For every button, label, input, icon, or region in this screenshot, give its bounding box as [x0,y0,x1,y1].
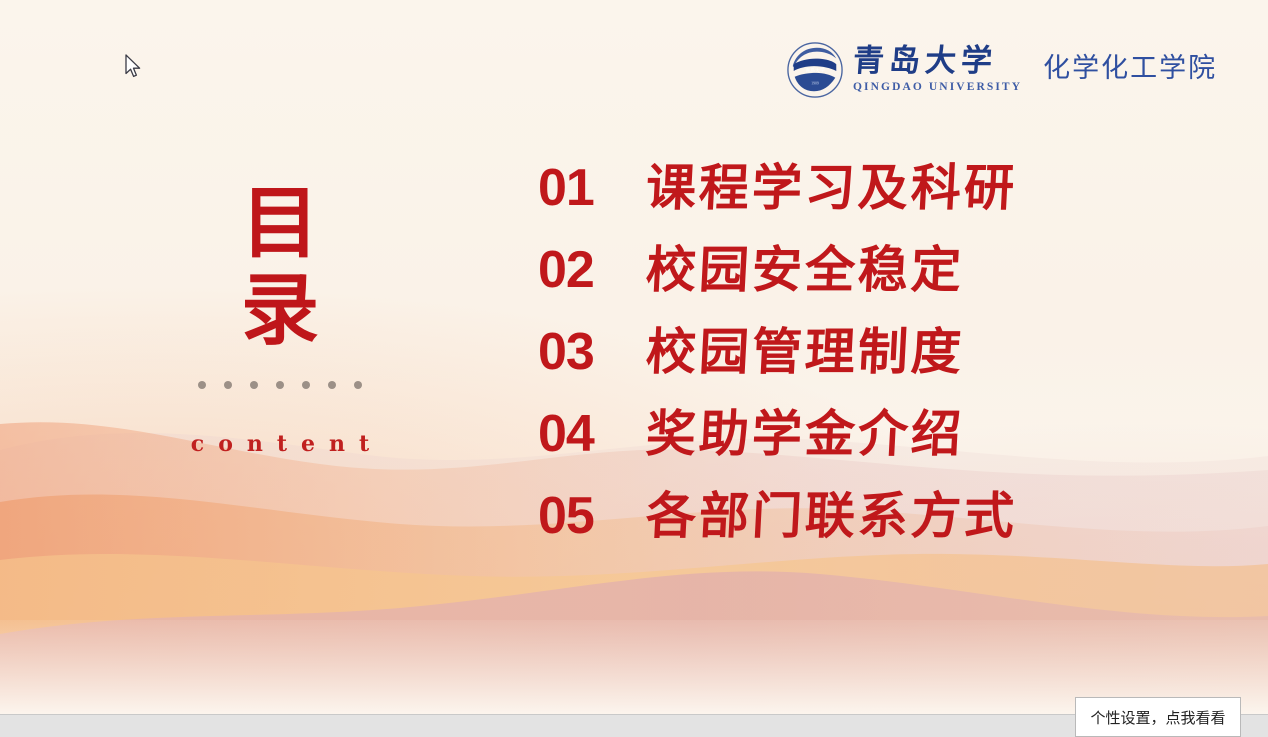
title-subtitle-content: content [140,431,420,457]
personalization-tooltip[interactable]: 个性设置，点我看看 [1075,697,1241,737]
agenda-item-04[interactable]: 04 奖助学金介绍 [538,408,1178,490]
svg-text:青岛大学: 青岛大学 [805,67,824,74]
agenda-label: 奖助学金介绍 [645,409,966,459]
decorative-dot [224,381,232,389]
university-name-block: 青岛大学 QINGDAO UNIVERSITY [853,46,1022,94]
decorative-dot [250,381,258,389]
university-logo: 青岛大学 1909 青岛大学 QINGDAO UNIVERSITY 化学化工学院 [786,36,1246,104]
agenda-number: 01 [538,162,646,214]
university-name-cn: 青岛大学 [852,46,1023,77]
decorative-dot [198,381,206,389]
agenda-label: 校园管理制度 [645,327,966,377]
agenda-label: 课程学习及科研 [645,163,1019,213]
decorative-dot [302,381,310,389]
arrow-cursor-icon [125,54,143,80]
table-of-contents-title: 目 录 content [140,180,420,457]
agenda-item-02[interactable]: 02 校园安全稳定 [538,244,1178,326]
agenda-number: 03 [538,326,646,378]
agenda-list: 01 课程学习及科研 02 校园安全稳定 03 校园管理制度 04 奖助学金介绍… [538,162,1178,572]
tooltip-label: 个性设置，点我看看 [1090,707,1225,728]
decorative-dot [354,381,362,389]
presentation-slide: 青岛大学 1909 青岛大学 QINGDAO UNIVERSITY 化学化工学院… [0,0,1268,714]
agenda-item-01[interactable]: 01 课程学习及科研 [538,162,1178,244]
agenda-number: 04 [538,408,646,460]
decorative-dot [328,381,336,389]
svg-text:1909: 1909 [811,82,819,86]
qingdao-university-emblem-icon: 青岛大学 1909 [786,41,844,99]
agenda-item-03[interactable]: 03 校园管理制度 [538,326,1178,408]
title-char-lu: 录 [140,267,420,354]
title-char-mu: 目 [140,180,420,267]
college-name-cn: 化学化工学院 [1043,55,1217,82]
agenda-number: 05 [538,490,646,542]
decorative-dot [276,381,284,389]
university-name-en: QINGDAO UNIVERSITY [853,82,1022,94]
agenda-label: 各部门联系方式 [645,491,1019,541]
agenda-number: 02 [538,244,646,296]
decorative-dot-row [140,381,420,389]
agenda-item-05[interactable]: 05 各部门联系方式 [538,490,1178,572]
agenda-label: 校园安全稳定 [645,245,966,295]
